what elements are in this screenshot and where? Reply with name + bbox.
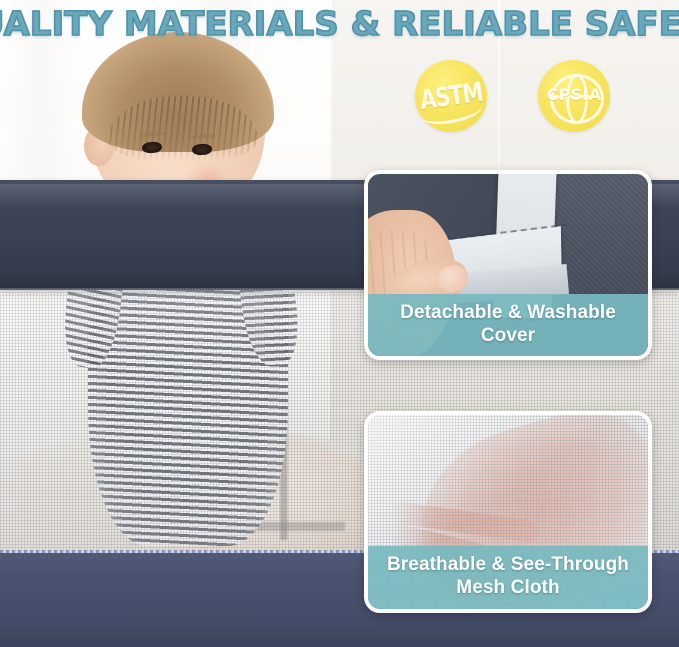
- product-feature-image: QUALITY MATERIALS & RELIABLE SAFETY ASTM…: [0, 0, 679, 647]
- mesh-cloth-caption: Breathable & See-Through Mesh Cloth: [368, 546, 648, 609]
- cpsia-badge: CPSIA: [538, 60, 610, 132]
- cpsia-badge-label: CPSIA: [544, 85, 604, 104]
- page-title: QUALITY MATERIALS & RELIABLE SAFETY: [0, 4, 679, 43]
- baby-subject: [60, 38, 320, 558]
- cpsia-globe-icon: CPSIA: [544, 66, 604, 126]
- detachable-cover-panel: Detachable & Washable Cover: [364, 170, 652, 360]
- mesh-cloth-caption-line-2: Mesh Cloth: [374, 576, 642, 599]
- detachable-cover-caption: Detachable & Washable Cover: [368, 294, 648, 356]
- astm-badge: ASTM: [415, 60, 487, 132]
- certification-badges: ASTM CPSIA: [412, 60, 612, 136]
- mesh-cloth-panel: Breathable & See-Through Mesh Cloth: [364, 411, 652, 613]
- headline-banner: QUALITY MATERIALS & RELIABLE SAFETY: [0, 0, 679, 46]
- mesh-cloth-caption-line-1: Breathable & See-Through: [374, 553, 642, 576]
